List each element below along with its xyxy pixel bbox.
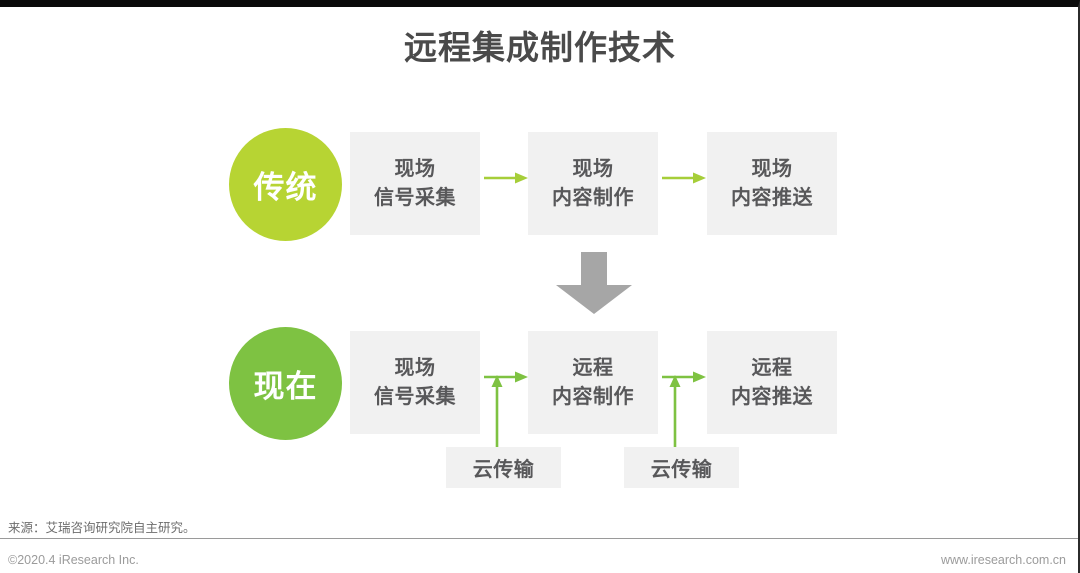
stage-line-2: 内容制作 [552,383,634,411]
source-note: 来源：艾瑞咨询研究院自主研究。 [8,517,196,536]
feeder-box-cloud-2: 云传输 [624,447,739,488]
feeder-box-cloud-1: 云传输 [446,447,561,488]
feeder-arrow-up-2 [667,375,683,449]
stage-line-1: 远程 [752,354,793,382]
stage-box-r1-c1: 现场 信号采集 [350,132,480,235]
stage-line-1: 现场 [395,354,436,382]
row-badge-traditional: 传统 [229,128,342,241]
feeder-arrow-up-1 [489,375,505,449]
slide-canvas: 远程集成制作技术 传统 现场 信号采集 现场 内容制作 现场 内容推送 现在 现… [0,0,1080,573]
stage-box-r2-c2: 远程 内容制作 [528,331,658,434]
page-title: 远程集成制作技术 [0,21,1080,69]
row-badge-label: 现在 [254,361,318,406]
row-badge-now: 现在 [229,327,342,440]
stage-line-2: 内容推送 [731,383,813,411]
stage-line-1: 现场 [395,155,436,183]
stage-line-2: 信号采集 [374,184,456,212]
flow-arrow-right-r1-b [662,170,706,186]
stage-box-r2-c1: 现场 信号采集 [350,331,480,434]
stage-line-2: 信号采集 [374,383,456,411]
stage-line-2: 内容制作 [552,184,634,212]
row-badge-label: 传统 [254,162,318,207]
stage-line-2: 内容推送 [731,184,813,212]
footer-divider [0,538,1078,539]
copyright-text: ©2020.4 iResearch Inc. [8,553,139,567]
stage-box-r2-c3: 远程 内容推送 [707,331,837,434]
flow-arrow-right-r1-a [484,170,528,186]
stage-box-r1-c2: 现场 内容制作 [528,132,658,235]
stage-line-1: 远程 [573,354,614,382]
stage-line-1: 现场 [752,155,793,183]
feeder-box-label: 云传输 [651,453,713,482]
stage-line-1: 现场 [573,155,614,183]
website-url: www.iresearch.com.cn [941,553,1066,567]
stage-box-r1-c3: 现场 内容推送 [707,132,837,235]
transition-down-arrow-icon [556,252,632,314]
feeder-box-label: 云传输 [473,453,535,482]
